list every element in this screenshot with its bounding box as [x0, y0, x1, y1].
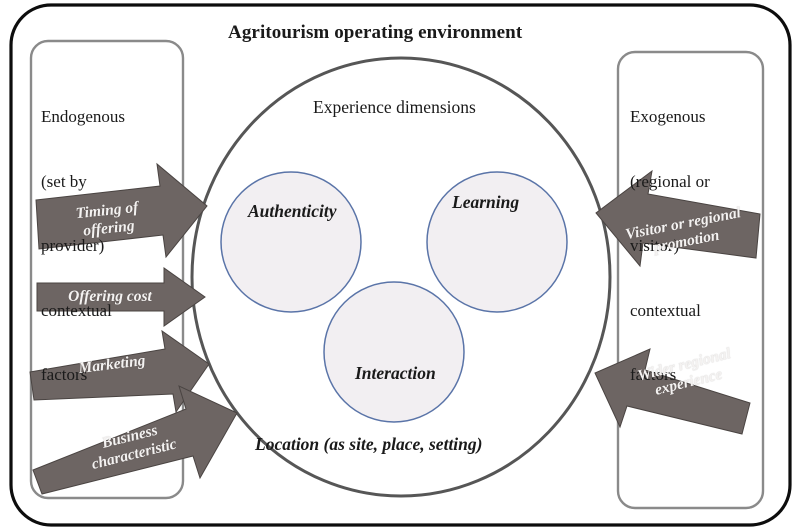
- exogenous-line-2: (regional or: [630, 171, 710, 193]
- venn-label-authenticity: Authenticity: [248, 201, 336, 222]
- exogenous-line-1: Exogenous: [630, 106, 710, 128]
- experience-dimensions-heading: Experience dimensions: [313, 97, 476, 118]
- exogenous-line-4: contextual: [630, 300, 710, 322]
- page-title: Agritourism operating environment: [228, 22, 522, 44]
- location-label: Location (as site, place, setting): [255, 434, 482, 455]
- endogenous-line-2: (set by: [41, 171, 125, 193]
- endogenous-line-1: Endogenous: [41, 106, 125, 128]
- venn-label-interaction: Interaction: [355, 363, 436, 384]
- venn-label-learning: Learning: [452, 192, 519, 213]
- arrow-label-offering-cost: Offering cost: [50, 288, 170, 306]
- figure-canvas: Agritourism operating environment Endoge…: [0, 0, 800, 530]
